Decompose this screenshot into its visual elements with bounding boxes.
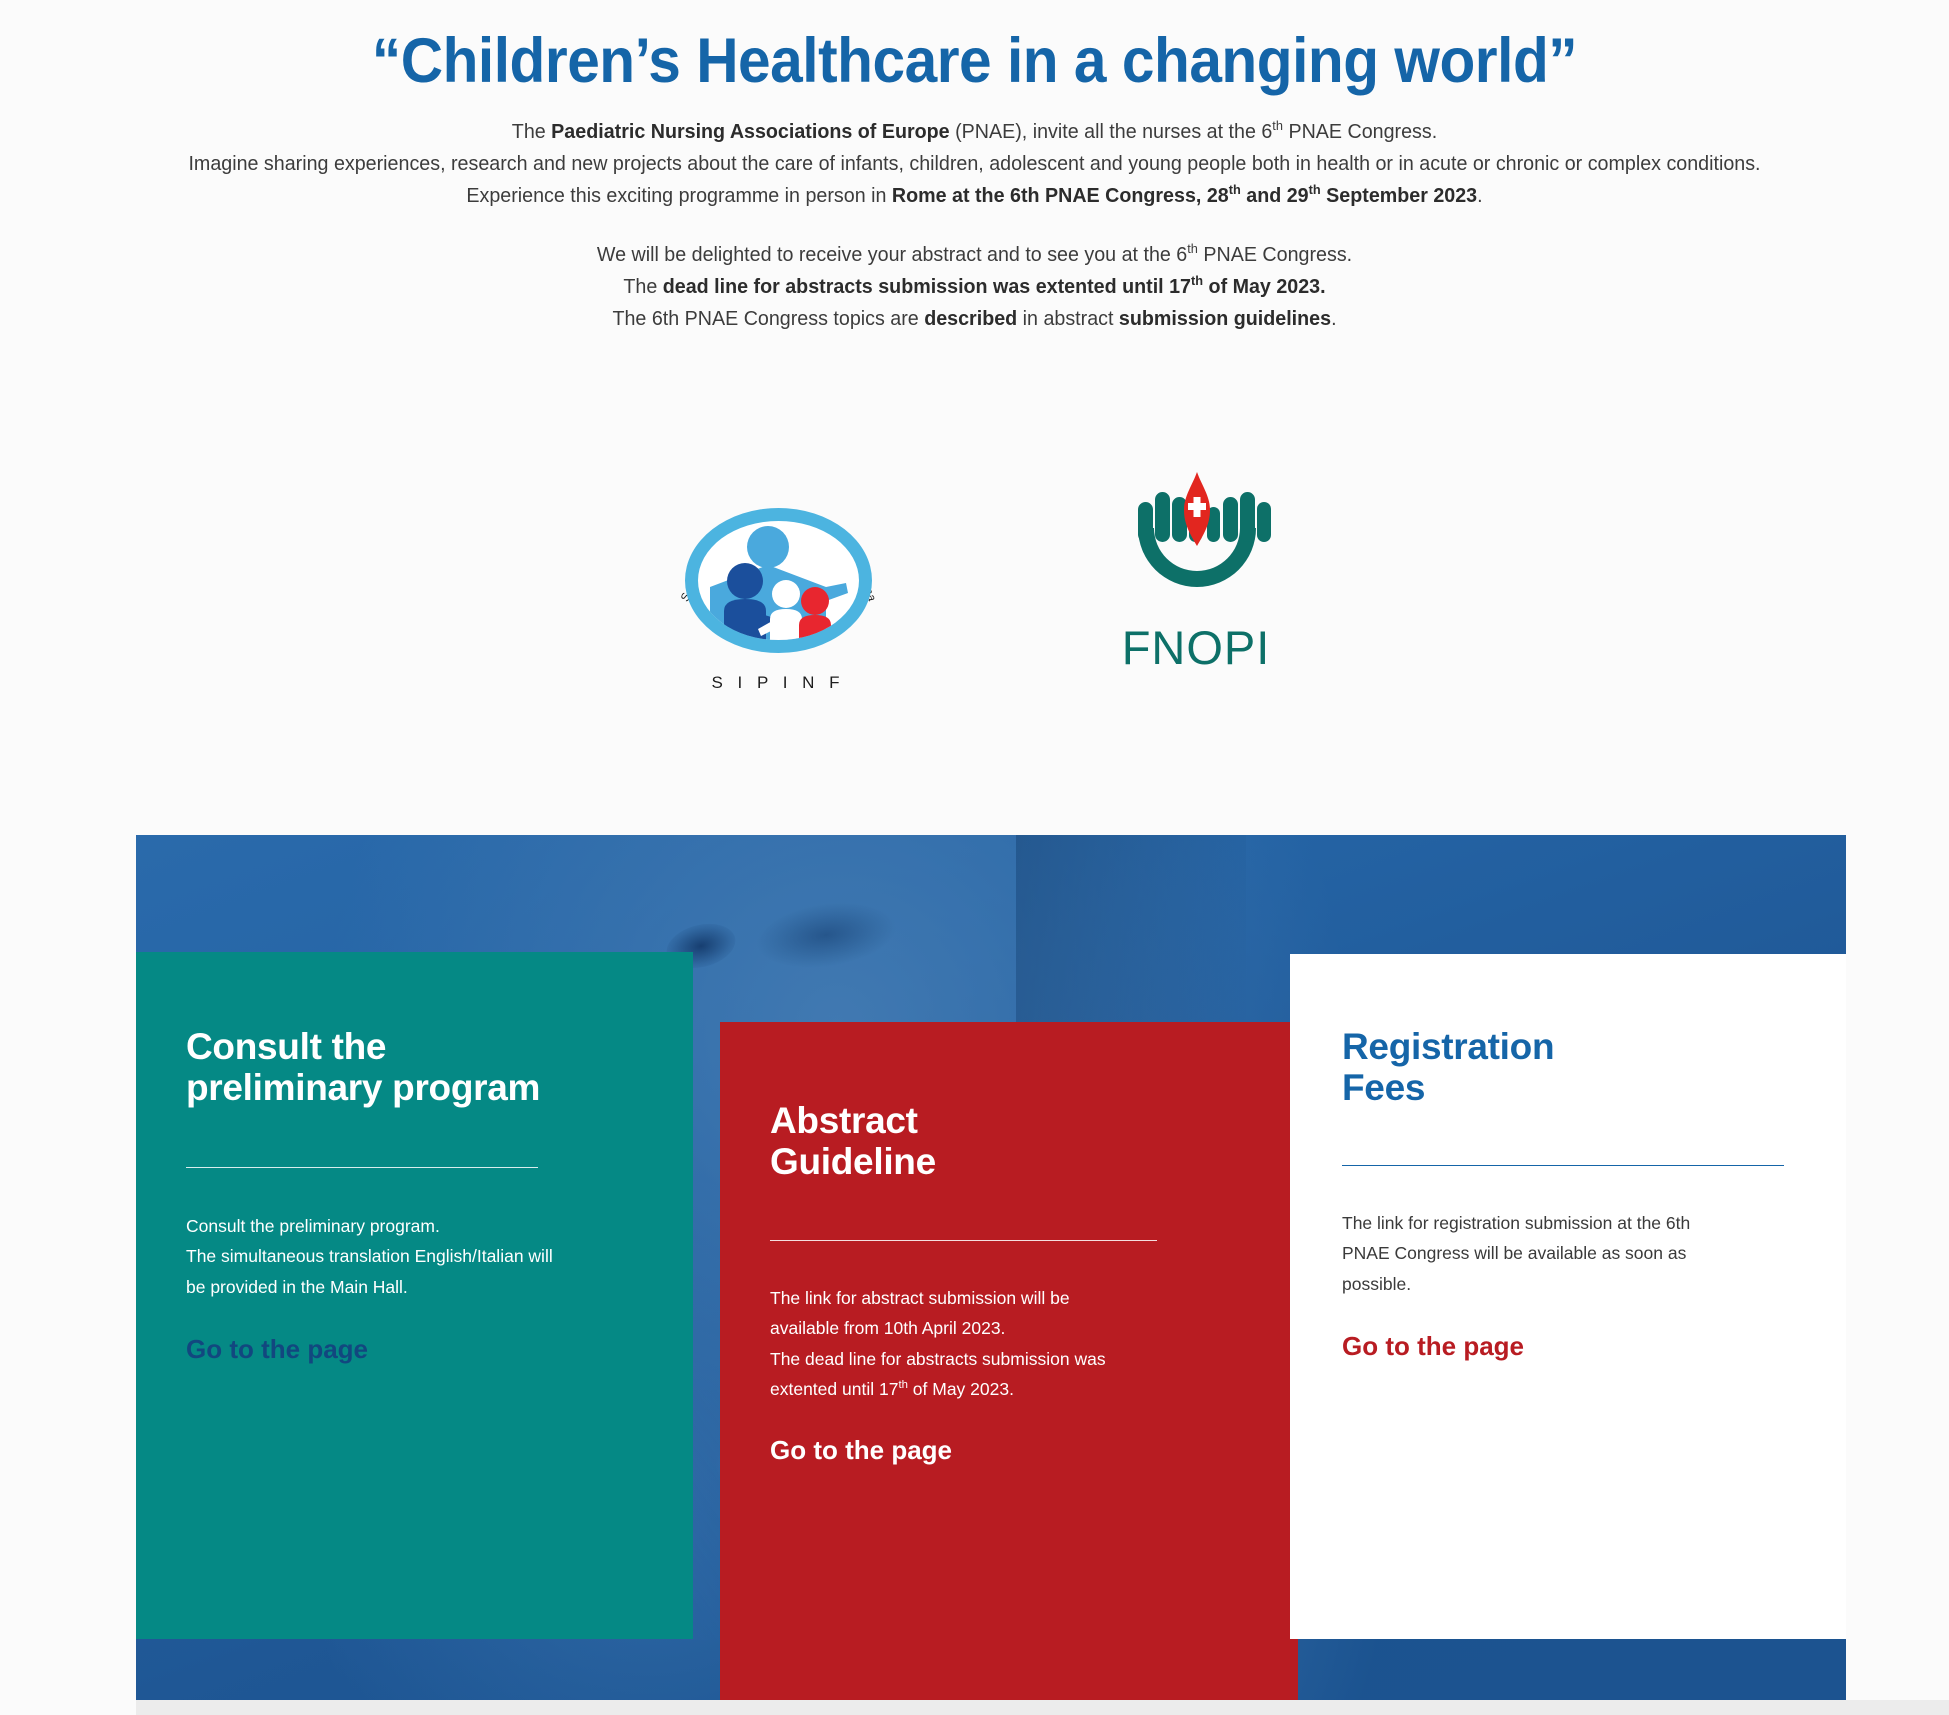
card-body-line2: The simultaneous translation English/Ita… xyxy=(186,1246,553,1266)
intro-line-4: We will be delighted to receive your abs… xyxy=(39,239,1910,271)
sipinf-logo: Società Italiana di Pediatria Infermieri… xyxy=(671,470,886,695)
fnopi-hands-flame-icon xyxy=(1122,470,1272,618)
card-body-line3: be provided in the Main Hall. xyxy=(186,1277,408,1297)
sipinf-label: S I P I N F xyxy=(671,673,886,693)
card-title-preliminary-program: Consult the preliminary program xyxy=(186,1026,643,1109)
intro-line-3-sup2: th xyxy=(1309,182,1321,197)
intro-line-5-bold: dead line for abstracts submission was e… xyxy=(663,275,1326,298)
card-title-line2: preliminary program xyxy=(186,1067,540,1108)
card-abstract-guideline[interactable]: Abstract Guideline The link for abstract… xyxy=(720,1022,1298,1700)
intro-line-3-bold3: September 2023 xyxy=(1321,184,1477,207)
intro-line-2: Imagine sharing experiences, research an… xyxy=(39,148,1910,180)
intro-line-3-post: . xyxy=(1477,184,1482,207)
intro-line-5: The dead line for abstracts submission w… xyxy=(39,271,1910,303)
intro-line-3-pre: Experience this exciting programme in pe… xyxy=(466,184,892,207)
card-title-line1: Registration xyxy=(1342,1026,1554,1067)
card-divider xyxy=(186,1167,538,1168)
intro-line-3-bold2: and 29 xyxy=(1241,184,1309,207)
intro-line-5-bold2: of May 2023. xyxy=(1203,275,1326,298)
intro-line-6-post: . xyxy=(1331,307,1336,330)
card-body-line4-sup: th xyxy=(898,1379,907,1391)
intro-line-6: The 6th PNAE Congress topics are describ… xyxy=(39,303,1910,335)
card-body-line1: Consult the preliminary program. xyxy=(186,1216,440,1236)
intro-line-6-mid: in abstract xyxy=(1017,307,1119,330)
card-divider xyxy=(1342,1165,1784,1166)
card-title-line2: Fees xyxy=(1342,1067,1425,1108)
card-body-line2: PNAE Congress will be available as soon … xyxy=(1342,1243,1686,1263)
intro-spacer xyxy=(0,212,1949,239)
card-body-line3: The dead line for abstracts submission w… xyxy=(770,1349,1106,1369)
intro-line-1-post: PNAE Congress. xyxy=(1283,120,1437,143)
intro-line-1-bold: Paediatric Nursing Associations of Europ… xyxy=(551,120,949,143)
card-body-line1: The link for abstract submission will be xyxy=(770,1288,1070,1308)
intro-line-6-bold1: described xyxy=(924,307,1017,330)
intro-line-3-bold1: Rome at the 6th PNAE Congress, 28 xyxy=(892,184,1229,207)
intro-line-3-sup1: th xyxy=(1229,182,1241,197)
sponsor-logos: Società Italiana di Pediatria Infermieri… xyxy=(0,470,1949,700)
page-title: “Children’s Healthcare in a changing wor… xyxy=(68,0,1881,94)
intro-line-4-post: PNAE Congress. xyxy=(1198,243,1352,266)
go-to-the-page-link-preliminary-program[interactable]: Go to the page xyxy=(186,1334,643,1365)
intro-line-3-bold: Rome at the 6th PNAE Congress, 28th and … xyxy=(892,184,1477,207)
intro-line-4-sup: th xyxy=(1187,241,1198,256)
intro-line-6-pre: The 6th PNAE Congress topics are xyxy=(612,307,924,330)
intro-line-1-sup: th xyxy=(1272,118,1283,133)
card-body-line1: The link for registration submission at … xyxy=(1342,1213,1690,1233)
card-registration-fees[interactable]: Registration Fees The link for registrat… xyxy=(1290,954,1846,1639)
fnopi-label: FNOPI xyxy=(1114,620,1279,675)
card-body-registration-fees: The link for registration submission at … xyxy=(1342,1208,1824,1299)
intro-line-5-pre: The xyxy=(623,275,662,298)
card-title-line1: Consult the xyxy=(186,1026,386,1067)
intro-section: “Children’s Healthcare in a changing wor… xyxy=(0,0,1949,835)
intro-line-3: Experience this exciting programme in pe… xyxy=(39,180,1910,212)
sipinf-ring-icon xyxy=(685,508,872,653)
card-title-line1: Abstract xyxy=(770,1100,918,1141)
intro-paragraphs: The Paediatric Nursing Associations of E… xyxy=(0,116,1949,335)
go-to-the-page-link-abstract-guideline[interactable]: Go to the page xyxy=(770,1435,1248,1466)
bottom-strip xyxy=(0,1700,1949,1715)
card-body-line4-post: of May 2023. xyxy=(908,1379,1014,1399)
card-body-line2: available from 10th April 2023. xyxy=(770,1318,1005,1338)
intro-line-4-pre: We will be delighted to receive your abs… xyxy=(597,243,1187,266)
fnopi-logo: FNOPI xyxy=(1114,470,1279,675)
page-root: “Children’s Healthcare in a changing wor… xyxy=(0,0,1949,1715)
card-divider xyxy=(770,1240,1157,1241)
intro-line-5-bold1: dead line for abstracts submission was e… xyxy=(663,275,1191,298)
card-title-registration-fees: Registration Fees xyxy=(1342,1026,1824,1109)
card-preliminary-program[interactable]: Consult the preliminary program Consult … xyxy=(136,952,693,1639)
card-title-abstract-guideline: Abstract Guideline xyxy=(770,1100,1248,1183)
intro-line-5-sup: th xyxy=(1191,273,1203,288)
card-title-line2: Guideline xyxy=(770,1141,936,1182)
card-body-abstract-guideline: The link for abstract submission will be… xyxy=(770,1283,1248,1405)
card-body-preliminary-program: Consult the preliminary program. The sim… xyxy=(186,1211,643,1302)
intro-line-1-pre: The xyxy=(512,120,551,143)
intro-line-1-mid: (PNAE), invite all the nurses at the 6 xyxy=(950,120,1273,143)
intro-line-6-bold2: submission guidelines xyxy=(1119,307,1331,330)
intro-line-1: The Paediatric Nursing Associations of E… xyxy=(39,116,1910,148)
go-to-the-page-link-registration-fees[interactable]: Go to the page xyxy=(1342,1331,1824,1362)
bottom-strip-left-gutter xyxy=(0,1700,136,1715)
sipinf-family-icon xyxy=(698,521,859,640)
card-body-line4-pre: extented until 17 xyxy=(770,1379,898,1399)
hero-section: Consult the preliminary program Consult … xyxy=(136,835,1846,1700)
card-body-line3: possible. xyxy=(1342,1274,1411,1294)
